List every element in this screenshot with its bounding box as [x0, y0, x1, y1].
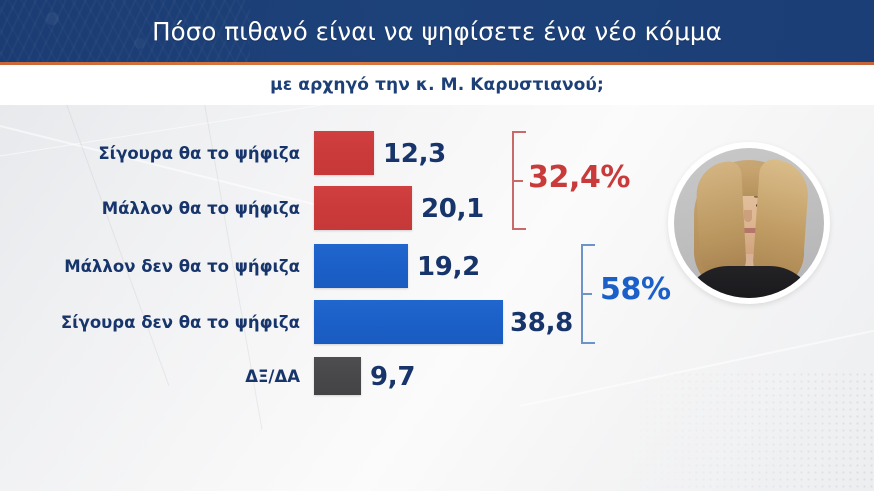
- page-title: Πόσο πιθανό είναι να ψηφίσετε ένα νέο κό…: [0, 0, 874, 62]
- bar-label-1: Μάλλον θα το ψήφιζα: [44, 199, 314, 218]
- bracket-cap-top: [512, 131, 526, 133]
- portrait-nose: [744, 210, 752, 222]
- portrait-image: [674, 148, 824, 298]
- group-total-agree: 32,4%: [528, 160, 630, 195]
- portrait-avatar: [668, 142, 830, 304]
- group-total-disagree: 58%: [600, 272, 671, 307]
- chart-row: ΔΞ/ΔΑ 9,7: [0, 357, 874, 395]
- portrait-hair-right: [752, 158, 810, 283]
- portrait-hair-left: [695, 161, 747, 281]
- bar-2: [314, 244, 408, 288]
- bar-label-2: Μάλλον δεν θα το ψήφιζα: [44, 257, 314, 276]
- bracket-cap-top: [581, 244, 595, 246]
- bar-4: [314, 357, 361, 395]
- bar-label-3: Σίγουρα δεν θα το ψήφιζα: [44, 313, 314, 332]
- bracket-cap-bottom: [581, 342, 595, 344]
- infographic-slide: Πόσο πιθανό είναι να ψηφίσετε ένα νέο κό…: [0, 0, 874, 491]
- bar-label-0: Σίγουρα θα το ψήφιζα: [44, 144, 314, 163]
- bar-value-0: 12,3: [383, 139, 446, 169]
- bracket-tick: [514, 180, 523, 182]
- bar-3: [314, 300, 503, 344]
- bar-0: [314, 131, 374, 175]
- bar-value-4: 9,7: [370, 362, 415, 392]
- chart-row: Σίγουρα δεν θα το ψήφιζα 38,8: [0, 300, 874, 344]
- bracket-disagree: [573, 244, 603, 344]
- header-banner: Πόσο πιθανό είναι να ψηφίσετε ένα νέο κό…: [0, 0, 874, 62]
- bar-value-3: 38,8: [510, 308, 573, 338]
- bracket-cap-bottom: [512, 228, 526, 230]
- bar-label-4: ΔΞ/ΔΑ: [44, 367, 314, 386]
- bar-1: [314, 186, 412, 230]
- page-subtitle: με αρχηγό την κ. Μ. Καρυστιανού;: [0, 65, 874, 105]
- bar-value-2: 19,2: [417, 252, 480, 282]
- bracket-tick: [583, 293, 592, 295]
- bar-value-1: 20,1: [421, 194, 484, 224]
- footer: OPEN BEYOND MRB: [0, 431, 874, 491]
